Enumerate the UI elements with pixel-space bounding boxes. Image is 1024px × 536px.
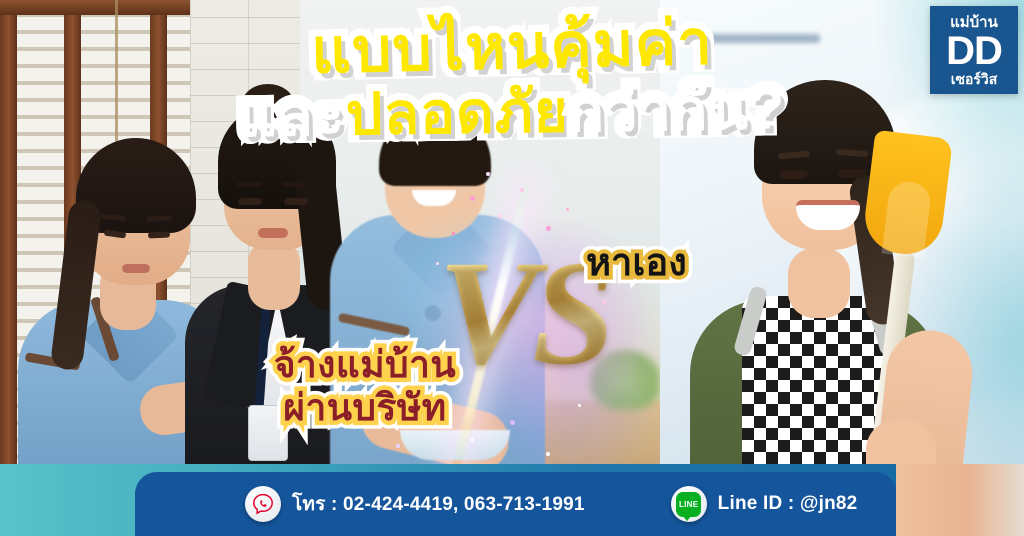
blind-frame-top <box>0 0 196 15</box>
eye-right <box>284 198 308 205</box>
line-icon: LINE <box>671 486 707 522</box>
neck <box>788 248 850 318</box>
eye-right <box>838 169 866 178</box>
shelf-blur <box>700 34 820 43</box>
logo-top-text: แม่บ้าน <box>950 15 998 30</box>
arm-overlapping-footer <box>896 464 1024 536</box>
logo-bottom-text: เซอร์วิส <box>951 72 998 86</box>
lips <box>122 264 150 273</box>
line-contact[interactable]: LINE Line ID : @jn82 <box>671 486 858 522</box>
bowl <box>400 430 510 460</box>
vs-label: VS <box>438 238 609 388</box>
promo-banner: แบบไหนคุ้มค่า แบบไหนคุ้มค่า แบบไหนคุ้มค่… <box>0 0 1024 536</box>
eyebrow-left <box>236 182 262 187</box>
contact-panel: โทร : 02-424-4419, 063-713-1991 LINE Lin… <box>135 472 897 536</box>
blind-frame-left <box>0 0 17 486</box>
line-badge-text: LINE <box>679 500 698 509</box>
phone-text: โทร : 02-424-4419, 063-713-1991 <box>292 489 585 519</box>
logo-main-text: DD <box>946 31 1002 71</box>
neck <box>248 240 300 310</box>
id-badge <box>248 405 288 461</box>
eyebrow-right <box>282 182 308 187</box>
eye-left <box>238 198 262 205</box>
eye-left <box>780 170 808 179</box>
phone-icon <box>245 486 281 522</box>
lips <box>258 228 288 238</box>
hair-bun <box>242 84 294 124</box>
brand-logo[interactable]: แม่บ้าน DD เซอร์วิส <box>930 6 1018 94</box>
line-id-text: Line ID : @jn82 <box>718 493 858 515</box>
eye-right <box>148 231 170 238</box>
line-badge: LINE <box>676 492 701 517</box>
phone-contact[interactable]: โทร : 02-424-4419, 063-713-1991 <box>245 486 585 522</box>
